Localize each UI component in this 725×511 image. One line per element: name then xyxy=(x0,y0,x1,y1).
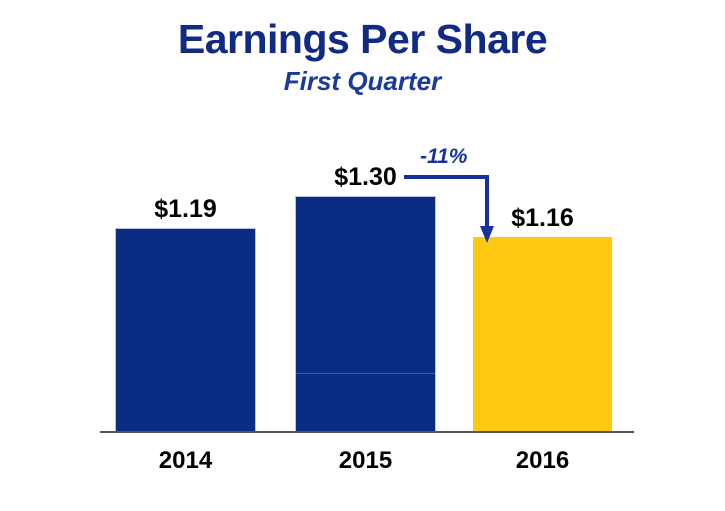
category-label-2014: 2014 xyxy=(115,449,256,473)
bar-2015[interactable] xyxy=(295,196,436,432)
slide-canvas: Earnings Per Share First Quarter $1.19 $… xyxy=(0,0,725,511)
bar-chart-plot-area: $1.19 $1.30 $1.16 2014 2015 2016 -11% xyxy=(0,0,725,511)
bar-2014[interactable] xyxy=(115,228,256,432)
delta-percent-label: -11% xyxy=(420,146,467,167)
bar-internal-divider xyxy=(296,373,435,374)
category-label-2016: 2016 xyxy=(473,449,612,473)
bar-value-label-2016: $1.16 xyxy=(473,206,612,231)
bar-value-label-2014: $1.19 xyxy=(115,197,256,222)
bar-value-label-2015: $1.30 xyxy=(295,165,436,190)
category-axis-line xyxy=(100,431,634,433)
bar-2016[interactable] xyxy=(473,237,612,432)
category-label-2015: 2015 xyxy=(295,449,436,473)
